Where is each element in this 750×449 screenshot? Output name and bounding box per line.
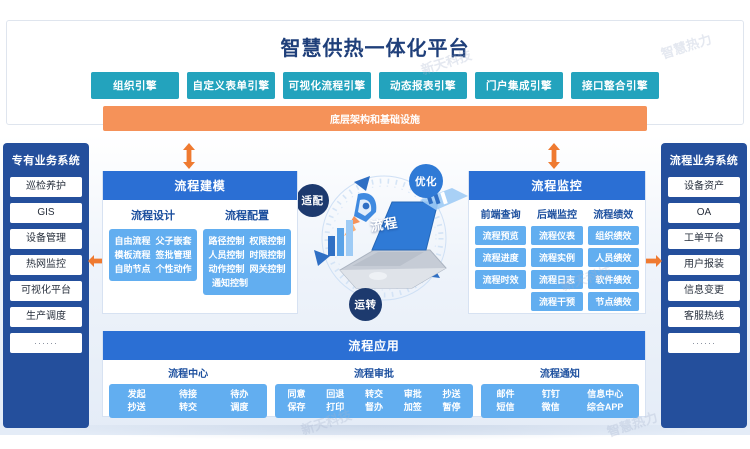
sidebar-item-workorder[interactable]: 工单平台 <box>668 229 740 249</box>
app-dingtalk[interactable]: 钉钉 <box>542 388 560 401</box>
bubble-operate[interactable]: 运转 <box>349 288 382 321</box>
tag-nested-flow[interactable]: 父子嵌套 <box>155 234 191 248</box>
chip-node-performance[interactable]: 节点绩效 <box>588 292 639 311</box>
app-pause[interactable]: 暂停 <box>442 401 460 414</box>
cycle-graphic <box>296 158 472 326</box>
app-wechat[interactable]: 微信 <box>542 401 560 414</box>
tag-free-flow[interactable]: 自由流程 <box>114 234 150 248</box>
monitor-column-performance: 流程绩效 组织绩效 人员绩效 软件绩效 节点绩效 <box>588 206 639 314</box>
app-reject[interactable]: 回退 <box>326 388 344 401</box>
app-transfer[interactable]: 转交 <box>179 401 197 414</box>
sidebar-item-asset[interactable]: 设备资产 <box>668 177 740 197</box>
tag-permission-control[interactable]: 权限控制 <box>249 234 285 248</box>
tag-template-flow[interactable]: 模板流程 <box>114 248 150 262</box>
chip-flow-instance[interactable]: 流程实例 <box>531 248 582 267</box>
modeling-design-title: 流程设计 <box>109 207 197 223</box>
monitor-card-title: 流程监控 <box>469 171 645 200</box>
tag-gateway-control[interactable]: 网关控制 <box>249 262 285 276</box>
modeling-card: 流程建模 流程设计 自由流程 父子嵌套 模板流程 签批管理 自助节点 个性动作 <box>102 171 298 314</box>
tag-self-node[interactable]: 自助节点 <box>114 262 150 276</box>
engine-button-org[interactable]: 组织引擎 <box>91 72 179 99</box>
engine-button-form[interactable]: 自定义表单引擎 <box>187 72 275 99</box>
stage-shadow <box>0 425 750 441</box>
app-initiate[interactable]: 发起 <box>128 388 146 401</box>
cycle-arrow-top <box>354 176 370 191</box>
modeling-config-title: 流程配置 <box>203 207 291 223</box>
left-sidebar: 专有业务系统 巡检养护 GIS 设备管理 热网监控 可视化平台 生产调度 ···… <box>3 143 89 428</box>
sidebar-item-hotline[interactable]: 客服热线 <box>668 307 740 327</box>
modeling-column-design: 流程设计 自由流程 父子嵌套 模板流程 签批管理 自助节点 个性动作 <box>109 207 197 295</box>
engine-button-row: 组织引擎 自定义表单引擎 可视化流程引擎 动态报表引擎 门户集成引擎 接口整合引… <box>7 72 743 99</box>
app-email[interactable]: 邮件 <box>497 388 515 401</box>
apps-center-title: 流程中心 <box>109 365 267 380</box>
app-agree[interactable]: 同意 <box>288 388 306 401</box>
tag-timelimit-control[interactable]: 时限控制 <box>249 248 285 262</box>
bubble-optimize[interactable]: 优化 <box>409 164 443 198</box>
infrastructure-bar: 底层架构和基础设施 <box>103 106 647 131</box>
sidebar-item-equipment[interactable]: 设备管理 <box>10 229 82 249</box>
chip-person-performance[interactable]: 人员绩效 <box>588 248 639 267</box>
modeling-design-tags: 自由流程 父子嵌套 模板流程 签批管理 自助节点 个性动作 <box>109 229 197 281</box>
sidebar-item-inspection[interactable]: 巡检养护 <box>10 177 82 197</box>
monitor-column-backend: 后端监控 流程仪表 流程实例 流程日志 流程干预 <box>531 206 582 314</box>
arrow-modeling-vertical-icon <box>181 143 197 169</box>
apps-notify-title: 流程通知 <box>481 365 639 380</box>
engine-button-report[interactable]: 动态报表引擎 <box>379 72 467 99</box>
sidebar-item-more-left[interactable]: ······ <box>10 333 82 353</box>
modeling-config-tags: 路径控制 权限控制 人员控制 时限控制 动作控制 网关控制 通知控制 <box>203 229 291 295</box>
app-dispatch[interactable]: 调度 <box>230 401 248 414</box>
apps-center-grid: 发起 待接 待办 抄送 转交 调度 <box>109 384 267 418</box>
monitor-column-frontend: 前端查询 流程预览 流程进度 流程时效 <box>475 206 526 314</box>
app-sms[interactable]: 短信 <box>496 401 514 414</box>
chip-flow-intervene[interactable]: 流程干预 <box>531 292 582 311</box>
app-save[interactable]: 保存 <box>288 401 306 414</box>
monitor-card: 流程监控 前端查询 流程预览 流程进度 流程时效 后端监控 流程仪表 流程实例 … <box>468 171 646 314</box>
chip-flow-log[interactable]: 流程日志 <box>531 270 582 289</box>
monitor-performance-title: 流程绩效 <box>588 206 639 221</box>
sidebar-item-oa[interactable]: OA <box>668 203 740 223</box>
sidebar-item-visualization[interactable]: 可视化平台 <box>10 281 82 301</box>
sidebar-item-dispatch[interactable]: 生产调度 <box>10 307 82 327</box>
chip-flow-preview[interactable]: 流程预览 <box>475 226 526 245</box>
app-forward[interactable]: 转交 <box>365 388 383 401</box>
bubble-adapt[interactable]: 适配 <box>296 184 329 217</box>
sidebar-item-userinstall[interactable]: 用户报装 <box>668 255 740 275</box>
sidebar-item-gis[interactable]: GIS <box>10 203 82 223</box>
tag-custom-action[interactable]: 个性动作 <box>155 262 191 276</box>
tag-notify-control[interactable]: 通知控制 <box>212 276 248 290</box>
tag-sign-manage[interactable]: 签批管理 <box>155 248 191 262</box>
engine-button-api[interactable]: 接口整合引擎 <box>571 72 659 99</box>
apps-approval-title: 流程审批 <box>275 365 473 380</box>
sidebar-item-infochange[interactable]: 信息变更 <box>668 281 740 301</box>
monitor-backend-title: 后端监控 <box>531 206 582 221</box>
app-cc[interactable]: 抄送 <box>128 401 146 414</box>
infographic-root: 智慧供热一体化平台 组织引擎 自定义表单引擎 可视化流程引擎 动态报表引擎 门户… <box>0 0 750 449</box>
app-supervise[interactable]: 督办 <box>365 401 383 414</box>
apps-notify-grid: 邮件 钉钉 信息中心 短信 微信 综合APP <box>481 384 639 418</box>
apps-column-notify: 流程通知 邮件 钉钉 信息中心 短信 微信 综合APP <box>481 365 639 418</box>
left-sidebar-title: 专有业务系统 <box>10 152 82 168</box>
chip-flow-timeliness[interactable]: 流程时效 <box>475 270 526 289</box>
tag-action-control[interactable]: 动作控制 <box>208 262 244 276</box>
tag-person-control[interactable]: 人员控制 <box>208 248 244 262</box>
applications-card: 流程应用 流程中心 发起 待接 待办 抄送 转交 调度 <box>102 331 646 417</box>
modeling-card-title: 流程建模 <box>103 171 297 200</box>
chip-software-performance[interactable]: 软件绩效 <box>588 270 639 289</box>
arrow-monitor-vertical-icon <box>546 143 562 169</box>
monitor-frontend-title: 前端查询 <box>475 206 526 221</box>
bar-chart-graphic <box>328 220 353 256</box>
apps-approval-grid: 同意 回退 转交 审批 抄送 保存 打印 督办 加签 暂停 <box>275 384 473 418</box>
engine-button-flow[interactable]: 可视化流程引擎 <box>283 72 371 99</box>
sidebar-item-more-right[interactable]: ······ <box>668 333 740 353</box>
engine-button-portal[interactable]: 门户集成引擎 <box>475 72 563 99</box>
process-cycle-illustration: 流程 适配 优化 运转 <box>296 158 472 326</box>
app-countersign[interactable]: 加签 <box>404 401 422 414</box>
app-todo[interactable]: 待办 <box>230 388 248 401</box>
chip-flow-dashboard[interactable]: 流程仪表 <box>531 226 582 245</box>
app-print[interactable]: 打印 <box>326 401 344 414</box>
sidebar-item-heatnetwork[interactable]: 热网监控 <box>10 255 82 275</box>
apps-column-approval: 流程审批 同意 回退 转交 审批 抄送 保存 打印 督办 加签 暂停 <box>275 365 473 418</box>
chip-flow-progress[interactable]: 流程进度 <box>475 248 526 267</box>
app-pending-accept[interactable]: 待接 <box>179 388 197 401</box>
applications-card-title: 流程应用 <box>103 331 645 360</box>
page-title: 智慧供热一体化平台 <box>7 32 743 61</box>
chip-org-performance[interactable]: 组织绩效 <box>588 226 639 245</box>
right-sidebar-title: 流程业务系统 <box>668 152 740 168</box>
platform-panel: 智慧供热一体化平台 组织引擎 自定义表单引擎 可视化流程引擎 动态报表引擎 门户… <box>6 20 744 125</box>
app-integrated-app[interactable]: 综合APP <box>587 401 624 414</box>
apps-column-center: 流程中心 发起 待接 待办 抄送 转交 调度 <box>109 365 267 418</box>
app-approve[interactable]: 审批 <box>404 388 422 401</box>
right-sidebar: 流程业务系统 设备资产 OA 工单平台 用户报装 信息变更 客服热线 ·····… <box>661 143 747 428</box>
app-message-center[interactable]: 信息中心 <box>587 388 623 401</box>
app-copy-to[interactable]: 抄送 <box>442 388 460 401</box>
tag-path-control[interactable]: 路径控制 <box>208 234 244 248</box>
modeling-column-config: 流程配置 路径控制 权限控制 人员控制 时限控制 动作控制 网关控制 <box>203 207 291 295</box>
